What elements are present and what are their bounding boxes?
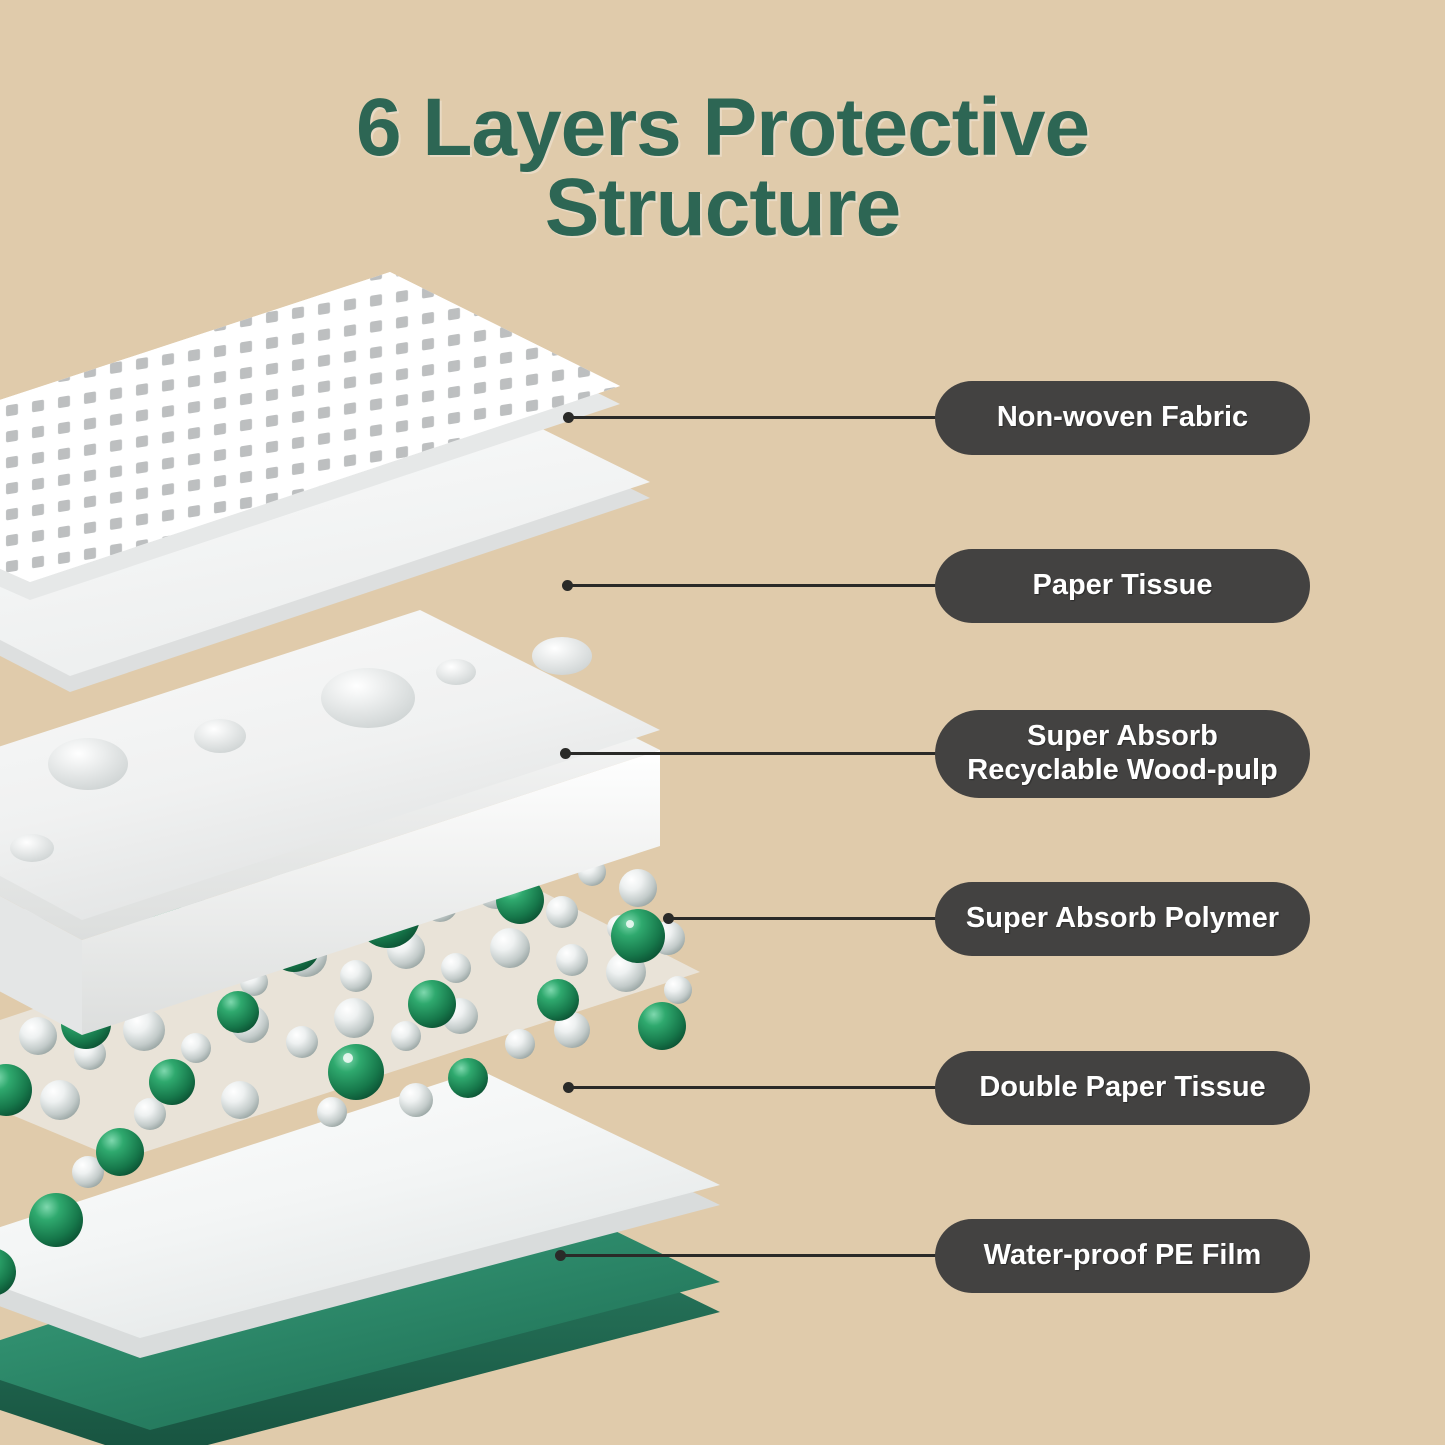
layer-label-paper-tissue[interactable]: Paper Tissue [935,549,1310,623]
layer-label-text: Double Paper Tissue [979,1071,1265,1105]
leader-line-double-paper-tissue [568,1086,940,1089]
layer-label-double-paper-tissue[interactable]: Double Paper Tissue [935,1051,1310,1125]
leader-line-super-absorb-polymer [668,917,940,920]
leader-line-super-absorb-recyclable-wood-pulp [565,752,940,755]
layer-label-text: Non-woven Fabric [997,401,1248,435]
layer-stack-illustration [0,300,820,1445]
layer-label-super-absorb-recyclable-wood-pulp[interactable]: Super Absorb Recyclable Wood-pulp [935,710,1310,798]
page-title: 6 Layers Protective Structure [0,88,1445,249]
layer-label-text: Super Absorb Polymer [966,902,1279,936]
infographic-poster: 6 Layers Protective Structure [0,0,1445,1445]
layer-label-text: Water-proof PE Film [984,1239,1262,1273]
leader-line-paper-tissue [567,584,940,587]
layer-label-text: Super Absorb Recyclable Wood-pulp [967,720,1277,787]
layer-label-non-woven-fabric[interactable]: Non-woven Fabric [935,381,1310,455]
leader-line-water-proof-pe-film [560,1254,940,1257]
leader-line-non-woven-fabric [568,416,940,419]
layer-label-super-absorb-polymer[interactable]: Super Absorb Polymer [935,882,1310,956]
layer-label-water-proof-pe-film[interactable]: Water-proof PE Film [935,1219,1310,1293]
layer-label-text: Paper Tissue [1032,569,1212,603]
